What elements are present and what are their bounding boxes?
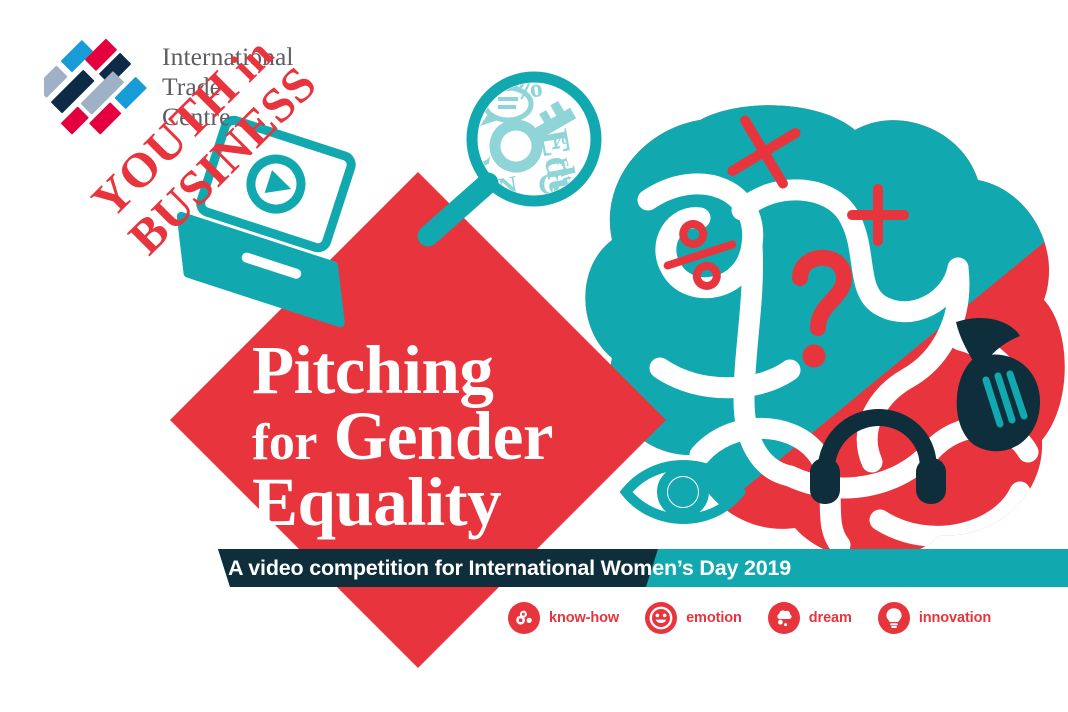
keyword-know-how: know-how [508,602,619,634]
itc-logo-mark [44,36,148,140]
title-word-gender: Gender [317,398,553,474]
poster-canvas: % % Edu Future % K N G [0,0,1068,712]
keyword-innovation: innovation [878,602,991,634]
lightbulb-icon [878,602,910,634]
title-line-1: Pitching [252,338,582,402]
keyword-label-dream: dream [809,610,852,626]
keyword-label-emotion: emotion [686,610,742,626]
keyword-label-know-how: know-how [549,610,619,626]
title-word-for: for [252,414,317,471]
title-line-3: Equality [252,470,582,534]
eye-icon [626,465,740,519]
subtitle-text: A video competition for International Wo… [228,556,791,582]
svg-text:%: % [549,127,570,150]
keyword-label-innovation: innovation [919,610,991,626]
title-line-2: for Gender [252,404,582,468]
keyword-dream: dream [768,602,852,634]
magnifying-glass-icon: % % Edu Future % K N G [428,64,596,236]
smiley-face-icon [645,602,677,634]
thought-cloud-icon [768,602,800,634]
gears-icon [508,602,540,634]
keyword-emotion: emotion [645,602,742,634]
keyword-row: know-how emotion [508,600,1017,636]
page-title: Pitching for Gender Equality [252,338,582,534]
